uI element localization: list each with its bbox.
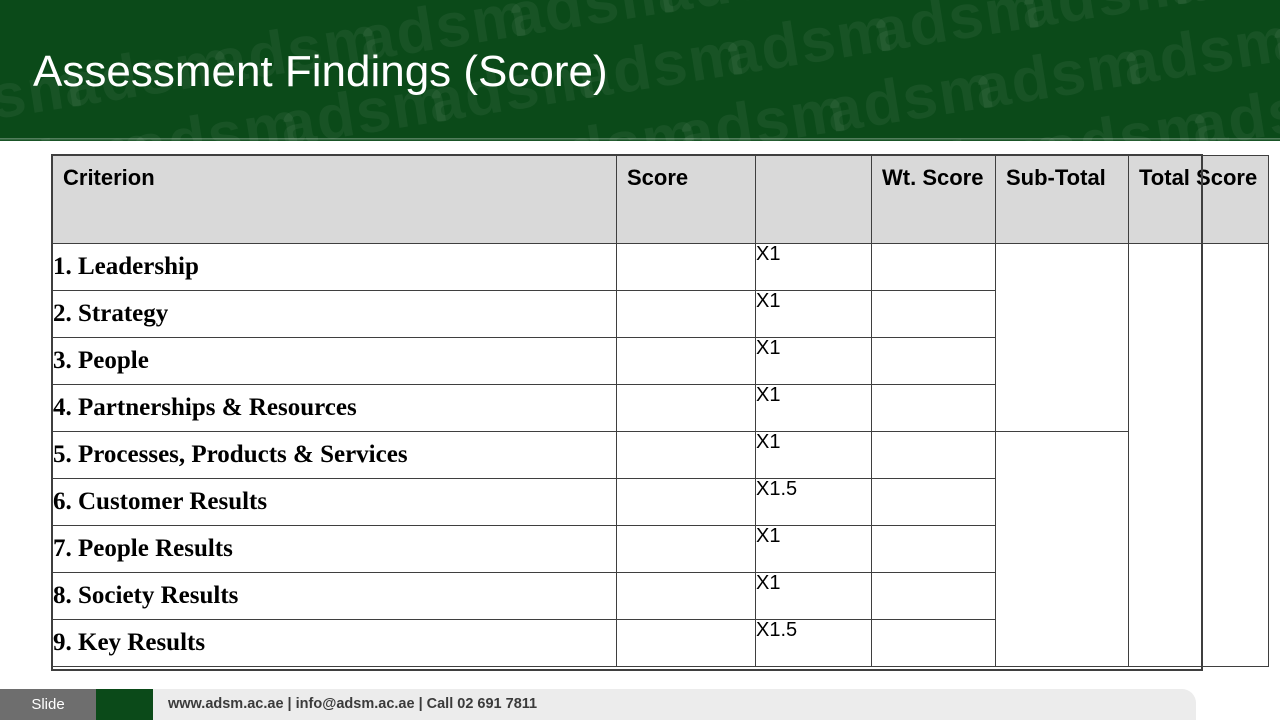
score-input-cell[interactable] (617, 385, 756, 432)
table-row: 5. Processes, Products & Services X1 (53, 432, 1269, 479)
score-input-cell[interactable] (617, 479, 756, 526)
weight-multiplier: X1.5 (756, 479, 872, 526)
table-row: 1. Leadership X1 (53, 244, 1269, 291)
table-header-row: Criterion Score Wt. Score Sub-Total Tota… (53, 156, 1269, 244)
weight-multiplier: X1 (756, 526, 872, 573)
column-header-score: Score (617, 156, 756, 244)
wt-score-input-cell[interactable] (872, 432, 996, 479)
criterion-label: 9. Key Results (53, 620, 617, 667)
score-input-cell[interactable] (617, 573, 756, 620)
footer-contact-info: www.adsm.ac.ae | info@adsm.ac.ae | Call … (168, 689, 537, 720)
wt-score-input-cell[interactable] (872, 244, 996, 291)
wt-score-input-cell[interactable] (872, 620, 996, 667)
criterion-label: 4. Partnerships & Resources (53, 385, 617, 432)
criterion-label: 1. Leadership (53, 244, 617, 291)
wt-score-input-cell[interactable] (872, 479, 996, 526)
sub-total-results-cell[interactable] (996, 432, 1129, 667)
wt-score-input-cell[interactable] (872, 526, 996, 573)
weight-multiplier: X1 (756, 338, 872, 385)
header-bottom-edge (0, 138, 1280, 141)
weight-multiplier: X1 (756, 291, 872, 338)
wt-score-input-cell[interactable] (872, 573, 996, 620)
sub-total-enablers-cell[interactable] (996, 244, 1129, 432)
wt-score-input-cell[interactable] (872, 385, 996, 432)
table-body: 1. Leadership X1 2. Strategy X1 3. Peopl… (53, 244, 1269, 667)
score-input-cell[interactable] (617, 526, 756, 573)
weight-multiplier: X1.5 (756, 620, 872, 667)
criterion-label: 8. Society Results (53, 573, 617, 620)
score-input-cell[interactable] (617, 432, 756, 479)
score-input-cell[interactable] (617, 244, 756, 291)
weight-multiplier: X1 (756, 244, 872, 291)
score-input-cell[interactable] (617, 620, 756, 667)
criterion-label: 6. Customer Results (53, 479, 617, 526)
wt-score-input-cell[interactable] (872, 291, 996, 338)
footer-accent-block (96, 689, 153, 720)
weight-multiplier: X1 (756, 432, 872, 479)
criterion-label: 2. Strategy (53, 291, 617, 338)
column-header-weight (756, 156, 872, 244)
criterion-label: 7. People Results (53, 526, 617, 573)
page-title: Assessment Findings (Score) (33, 43, 608, 101)
total-score-cell[interactable] (1129, 244, 1269, 667)
wt-score-input-cell[interactable] (872, 338, 996, 385)
column-header-wt-score: Wt. Score (872, 156, 996, 244)
assessment-score-table: Criterion Score Wt. Score Sub-Total Tota… (52, 155, 1269, 667)
weight-multiplier: X1 (756, 385, 872, 432)
column-header-criterion: Criterion (53, 156, 617, 244)
weight-multiplier: X1 (756, 573, 872, 620)
slide-number-block: Slide (0, 689, 96, 720)
column-header-total-score: Total Score (1129, 156, 1269, 244)
score-input-cell[interactable] (617, 291, 756, 338)
criterion-label: 3. People (53, 338, 617, 385)
criterion-label: 5. Processes, Products & Services (53, 432, 617, 479)
column-header-sub-total: Sub-Total (996, 156, 1129, 244)
score-input-cell[interactable] (617, 338, 756, 385)
slide-footer: Slide www.adsm.ac.ae | info@adsm.ac.ae |… (0, 689, 1280, 720)
